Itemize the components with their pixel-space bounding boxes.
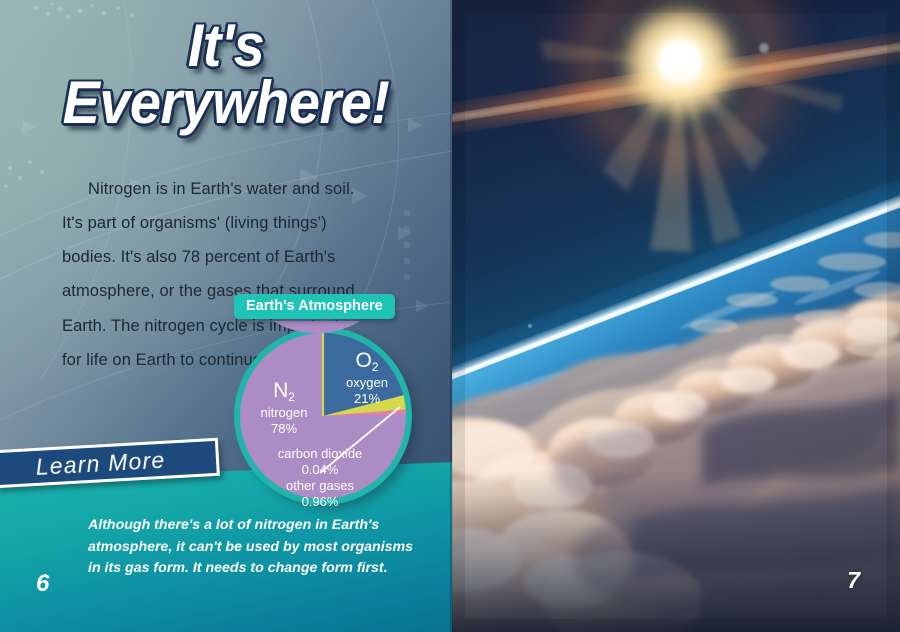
title-line-1: It's [16, 18, 436, 73]
chart-title-banner: Earth's Atmosphere [234, 294, 395, 319]
space-sunrise-photo [452, 0, 900, 632]
title-line-2: Everywhere! [16, 75, 436, 130]
book-spread: It's Everywhere! Nitrogen is in Earth's … [0, 0, 900, 632]
left-page: It's Everywhere! Nitrogen is in Earth's … [0, 0, 452, 632]
learn-more-note: Although there's a lot of nitrogen in Ea… [88, 515, 418, 580]
pie-svg [228, 321, 418, 511]
page-number-right: 7 [847, 567, 860, 594]
atmosphere-pie-chart: Earth's Atmosphere [228, 294, 428, 504]
page-gutter [450, 0, 453, 632]
right-page: 7 [452, 0, 900, 632]
page-number-left: 6 [36, 570, 49, 598]
page-title: It's Everywhere! [0, 18, 452, 130]
